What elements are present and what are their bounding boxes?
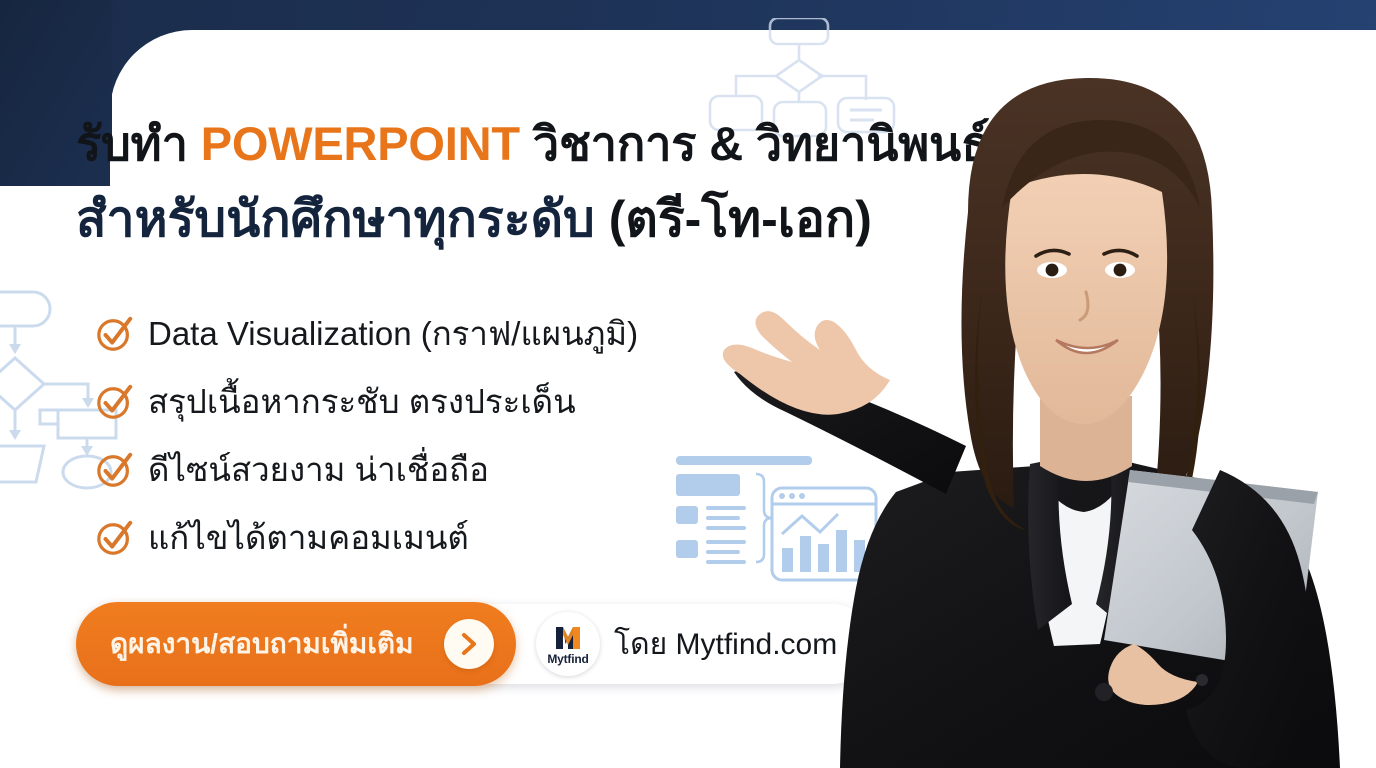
chevron-right-icon[interactable] (444, 619, 494, 669)
promo-banner: รับทำ POWERPOINT วิชาการ & วิทยานิพนธ์ ส… (0, 0, 1376, 768)
list-item-label: ดีไซน์สวยงาม น่าเชื่อถือ (148, 452, 489, 488)
list-item-label: สรุปเนื้อหากระชับ ตรงประเด็น (148, 384, 576, 420)
mytfind-logo: Mytfind (536, 612, 600, 676)
headline-highlight-powerpoint: POWERPOINT (201, 117, 520, 170)
letter-m-icon (554, 625, 582, 651)
presenter-photo (700, 40, 1376, 768)
cta-button-label: ดูผลงาน/สอบถามเพิ่มเติม (110, 622, 414, 666)
list-item-label: แก้ไขได้ตามคอมเมนต์ (148, 520, 469, 556)
list-item-label: Data Visualization (กราฟ/แผนภูมิ) (148, 316, 638, 352)
view-portfolio-button[interactable]: ดูผลงาน/สอบถามเพิ่มเติม (76, 602, 516, 686)
check-circle-icon (96, 519, 134, 557)
headline-line2-main: สำหรับนักศึกษาทุกระดับ (76, 191, 595, 247)
check-circle-icon (96, 451, 134, 489)
check-circle-icon (96, 315, 134, 353)
check-circle-icon (96, 383, 134, 421)
logo-wordmark: Mytfind (547, 652, 588, 666)
headline-prefix: รับทำ (76, 117, 201, 170)
